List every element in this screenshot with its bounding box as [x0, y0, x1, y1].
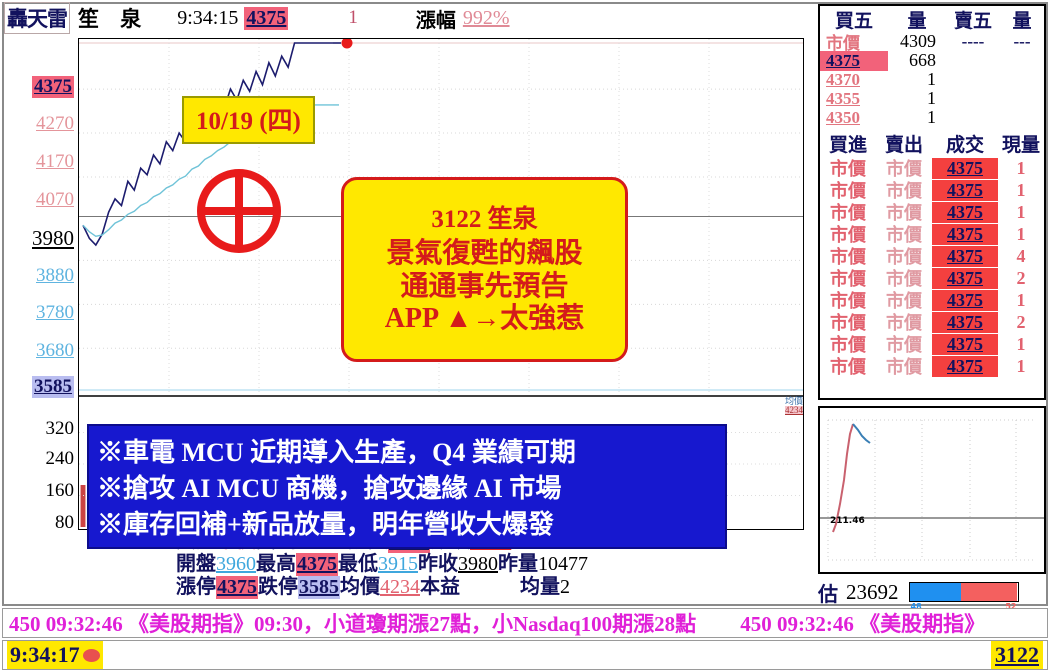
ob-bid-qty: 1: [888, 107, 946, 128]
ob-bid-qty: 668: [888, 50, 946, 71]
tx-deal-price: 4375: [932, 158, 998, 179]
transaction-row[interactable]: 市價市價43751: [820, 179, 1044, 201]
tx-sell: 市價: [876, 353, 932, 379]
app-logo[interactable]: 轟天雷: [4, 2, 70, 34]
avg-price-label: 均價: [340, 576, 380, 599]
y-tick-4270: 4270: [36, 113, 74, 135]
tx-col-qty: 現量: [998, 130, 1044, 157]
clock-display: 9:34:17: [7, 641, 103, 669]
y-tick-3880: 3880: [36, 265, 74, 287]
ob-bid-price: 4350: [820, 108, 888, 128]
ob-col-ask: 賣五: [946, 6, 1000, 33]
notes-callout: ※車電 MCU 近期導入生產，Q4 業績可期 ※搶攻 AI MCU 商機，搶攻邊…: [87, 424, 727, 549]
estimate-row: 估 23692 48 52: [818, 578, 1046, 606]
y-tick-4170: 4170: [36, 151, 74, 173]
open-label: 開盤: [176, 553, 216, 576]
order-book-row[interactable]: 市價4309-------: [820, 32, 1044, 51]
y-tick-limit-up: 4375: [32, 76, 74, 98]
quote-header: 轟天雷 笙 泉 9:34:15 4375 1 漲幅 992%: [4, 2, 814, 34]
avg-price-tag: 均價 4234: [785, 397, 803, 415]
last-quantity: 1: [348, 7, 358, 29]
low-value: 3915: [378, 553, 418, 576]
transaction-row[interactable]: 市價市價43754: [820, 245, 1044, 267]
y-tick-3680: 3680: [36, 340, 74, 362]
transaction-row[interactable]: 市價市價43752: [820, 267, 1044, 289]
high-label: 最高: [256, 553, 296, 576]
ticker-text-a: 450 09:32:46 《美股期指》09:30，小道瓊期漲27點，小Nasda…: [9, 608, 696, 638]
order-book-rows: 市價4309-------4375668437014355143501: [820, 32, 1044, 127]
ob-col-bid-qty: 量: [888, 6, 946, 33]
tx-quantity: 4: [998, 246, 1044, 267]
news-ticker[interactable]: 450 09:32:46 《美股期指》09:30，小道瓊期漲27點，小Nasda…: [2, 608, 1048, 638]
note-line-3: ※庫存回補+新品放量，明年營收大爆發: [97, 507, 717, 543]
pe-label: 本益: [420, 576, 460, 599]
recording-dot-icon: [83, 649, 100, 662]
change-label: 漲幅: [416, 4, 456, 33]
tx-deal-price: 4375: [932, 334, 998, 355]
promo-line-1: 景氣復甦的飆股: [386, 238, 582, 270]
avg-volume-value: 2: [560, 576, 570, 599]
estimate-value: 23692: [846, 580, 899, 605]
tx-buy: 市價: [820, 353, 876, 379]
status-bar: 9:34:17 3122: [2, 640, 1048, 670]
stock-code-badge: 3122: [991, 641, 1043, 669]
ob-bid-qty: 1: [888, 88, 946, 109]
sentiment-gauge[interactable]: 48 52: [909, 582, 1019, 602]
gauge-bear-segment: [961, 583, 1017, 601]
ob-bid-price: 4375: [820, 51, 888, 71]
tx-quantity: 1: [998, 202, 1044, 223]
tx-col-sell: 賣出: [876, 130, 932, 157]
tx-deal-price: 4375: [932, 290, 998, 311]
promo-line-0: 3122 笙泉: [431, 205, 537, 234]
open-value: 3960: [216, 553, 256, 576]
y-tick-3780: 3780: [36, 302, 74, 324]
transaction-row[interactable]: 市價市價43751: [820, 333, 1044, 355]
avg-price-value: 4234: [380, 576, 420, 599]
tx-deal-price: 4375: [932, 224, 998, 245]
transaction-row[interactable]: 市價市價43751: [820, 223, 1044, 245]
ob-bid-price: 4370: [820, 70, 888, 90]
limit-down-value: 3585: [298, 576, 340, 599]
tx-quantity: 1: [998, 356, 1044, 377]
ob-bid-price: 4355: [820, 89, 888, 109]
transaction-row[interactable]: 市價市價43751: [820, 355, 1044, 377]
mini-index-chart[interactable]: 211.46: [818, 406, 1046, 574]
tx-quantity: 1: [998, 158, 1044, 179]
ob-ask-price: ----: [946, 32, 1000, 52]
order-book-row[interactable]: 43701: [820, 70, 1044, 89]
tx-quantity: 1: [998, 290, 1044, 311]
prev-close-label: 昨收: [418, 553, 458, 576]
tx-deal-price: 4375: [932, 246, 998, 267]
avg-price-tag-value: 4234: [785, 406, 803, 415]
tx-quantity: 1: [998, 180, 1044, 201]
transactions-header: 買進 賣出 成交 現量: [820, 130, 1044, 157]
transaction-rows: 市價市價43751市價市價43751市價市價43751市價市價43751市價市價…: [820, 157, 1044, 377]
transaction-row[interactable]: 市價市價43751: [820, 201, 1044, 223]
order-book-row[interactable]: 43551: [820, 89, 1044, 108]
order-book-row[interactable]: 4375668: [820, 51, 1044, 70]
limit-up-label: 漲停: [176, 576, 216, 599]
transaction-row[interactable]: 市價市價43752: [820, 311, 1044, 333]
ob-col-ask-qty: 量: [1000, 6, 1044, 33]
ob-ask-qty: ---: [1000, 32, 1044, 52]
promo-line-3: APP ▲→太強惹: [385, 303, 585, 335]
change-percent: 992%: [463, 7, 510, 30]
crosshair-target-icon: [194, 166, 284, 256]
promo-callout: 3122 笙泉 景氣復甦的飆股 通通事先預告 APP ▲→太強惹: [341, 177, 628, 362]
prev-close-value: 3980: [458, 553, 498, 576]
last-price: 4375: [244, 7, 288, 30]
mini-chart-label: 211.46: [830, 516, 865, 526]
y-tick-vol-320: 320: [46, 418, 75, 440]
ob-bid-qty: 4309: [888, 31, 946, 52]
transaction-row[interactable]: 市價市價43751: [820, 157, 1044, 179]
order-book-panel: 買五 量 賣五 量 市價4309-------43756684370143551…: [818, 4, 1046, 400]
gauge-bull-segment: [910, 583, 962, 601]
tx-col-buy: 買進: [820, 130, 876, 157]
tx-deal-price: 4375: [932, 202, 998, 223]
y-tick-limit-down: 3585: [32, 376, 74, 398]
estimate-label: 估: [818, 578, 838, 607]
transaction-row[interactable]: 市價市價43751: [820, 289, 1044, 311]
y-tick-prev-close: 3980: [32, 226, 74, 251]
trading-terminal: 轟天雷 笙 泉 9:34:15 4375 1 漲幅 992% 4375 4270…: [0, 0, 1050, 672]
tx-deal-price: 4375: [932, 312, 998, 333]
tx-quantity: 2: [998, 268, 1044, 289]
ob-bid-qty: 1: [888, 69, 946, 90]
tx-deal-price: 4375: [932, 268, 998, 289]
avg-volume-label: 均量: [520, 576, 560, 599]
tx-deal-price: 4375: [932, 180, 998, 201]
high-value: 4375: [296, 553, 338, 576]
stock-name: 笙 泉: [78, 3, 149, 33]
order-book-row[interactable]: 43501: [820, 108, 1044, 127]
low-label: 最低: [338, 553, 378, 576]
y-tick-vol-80: 80: [55, 512, 74, 534]
clock-time: 9:34:17: [10, 642, 80, 668]
y-tick-4070: 4070: [36, 189, 74, 211]
chart-area[interactable]: 4375 4270 4170 4070 3980 3880 3780 3680 …: [4, 34, 814, 530]
ticker-text-b: 450 09:32:46 《美股期指》: [740, 608, 985, 638]
quote-time: 9:34:15: [177, 7, 238, 30]
y-axis: 4375 4270 4170 4070 3980 3880 3780 3680 …: [4, 34, 78, 530]
mini-chart-svg: [820, 408, 1044, 572]
note-line-2: ※搶攻 AI MCU 商機，搶攻邊緣 AI 市場: [97, 471, 717, 507]
y-tick-vol-240: 240: [46, 448, 75, 470]
tx-quantity: 1: [998, 334, 1044, 355]
y-tick-vol-160: 160: [46, 480, 75, 502]
right-panel: 買五 量 賣五 量 市價4309-------43756684370143551…: [818, 4, 1046, 600]
stats-row-3: 漲停 4375 跌停 3585 均價 4234 本益 均量 2: [176, 576, 816, 599]
limit-up-value: 4375: [216, 576, 258, 599]
tx-quantity: 2: [998, 312, 1044, 333]
tx-deal-price: 4375: [932, 356, 998, 377]
tx-quantity: 1: [998, 224, 1044, 245]
promo-line-2: 通通事先預告: [400, 271, 568, 303]
prev-volume-label: 昨量: [498, 553, 538, 576]
tx-col-deal: 成交: [932, 130, 998, 157]
date-badge: 10/19 (四): [182, 96, 315, 144]
stats-row-2: 開盤 3960 最高 4375 最低 3915 昨收 3980 昨量 10477: [176, 553, 816, 576]
prev-volume-value: 10477: [538, 553, 588, 576]
limit-down-label: 跌停: [258, 576, 298, 599]
note-line-1: ※車電 MCU 近期導入生產，Q4 業績可期: [97, 435, 717, 471]
